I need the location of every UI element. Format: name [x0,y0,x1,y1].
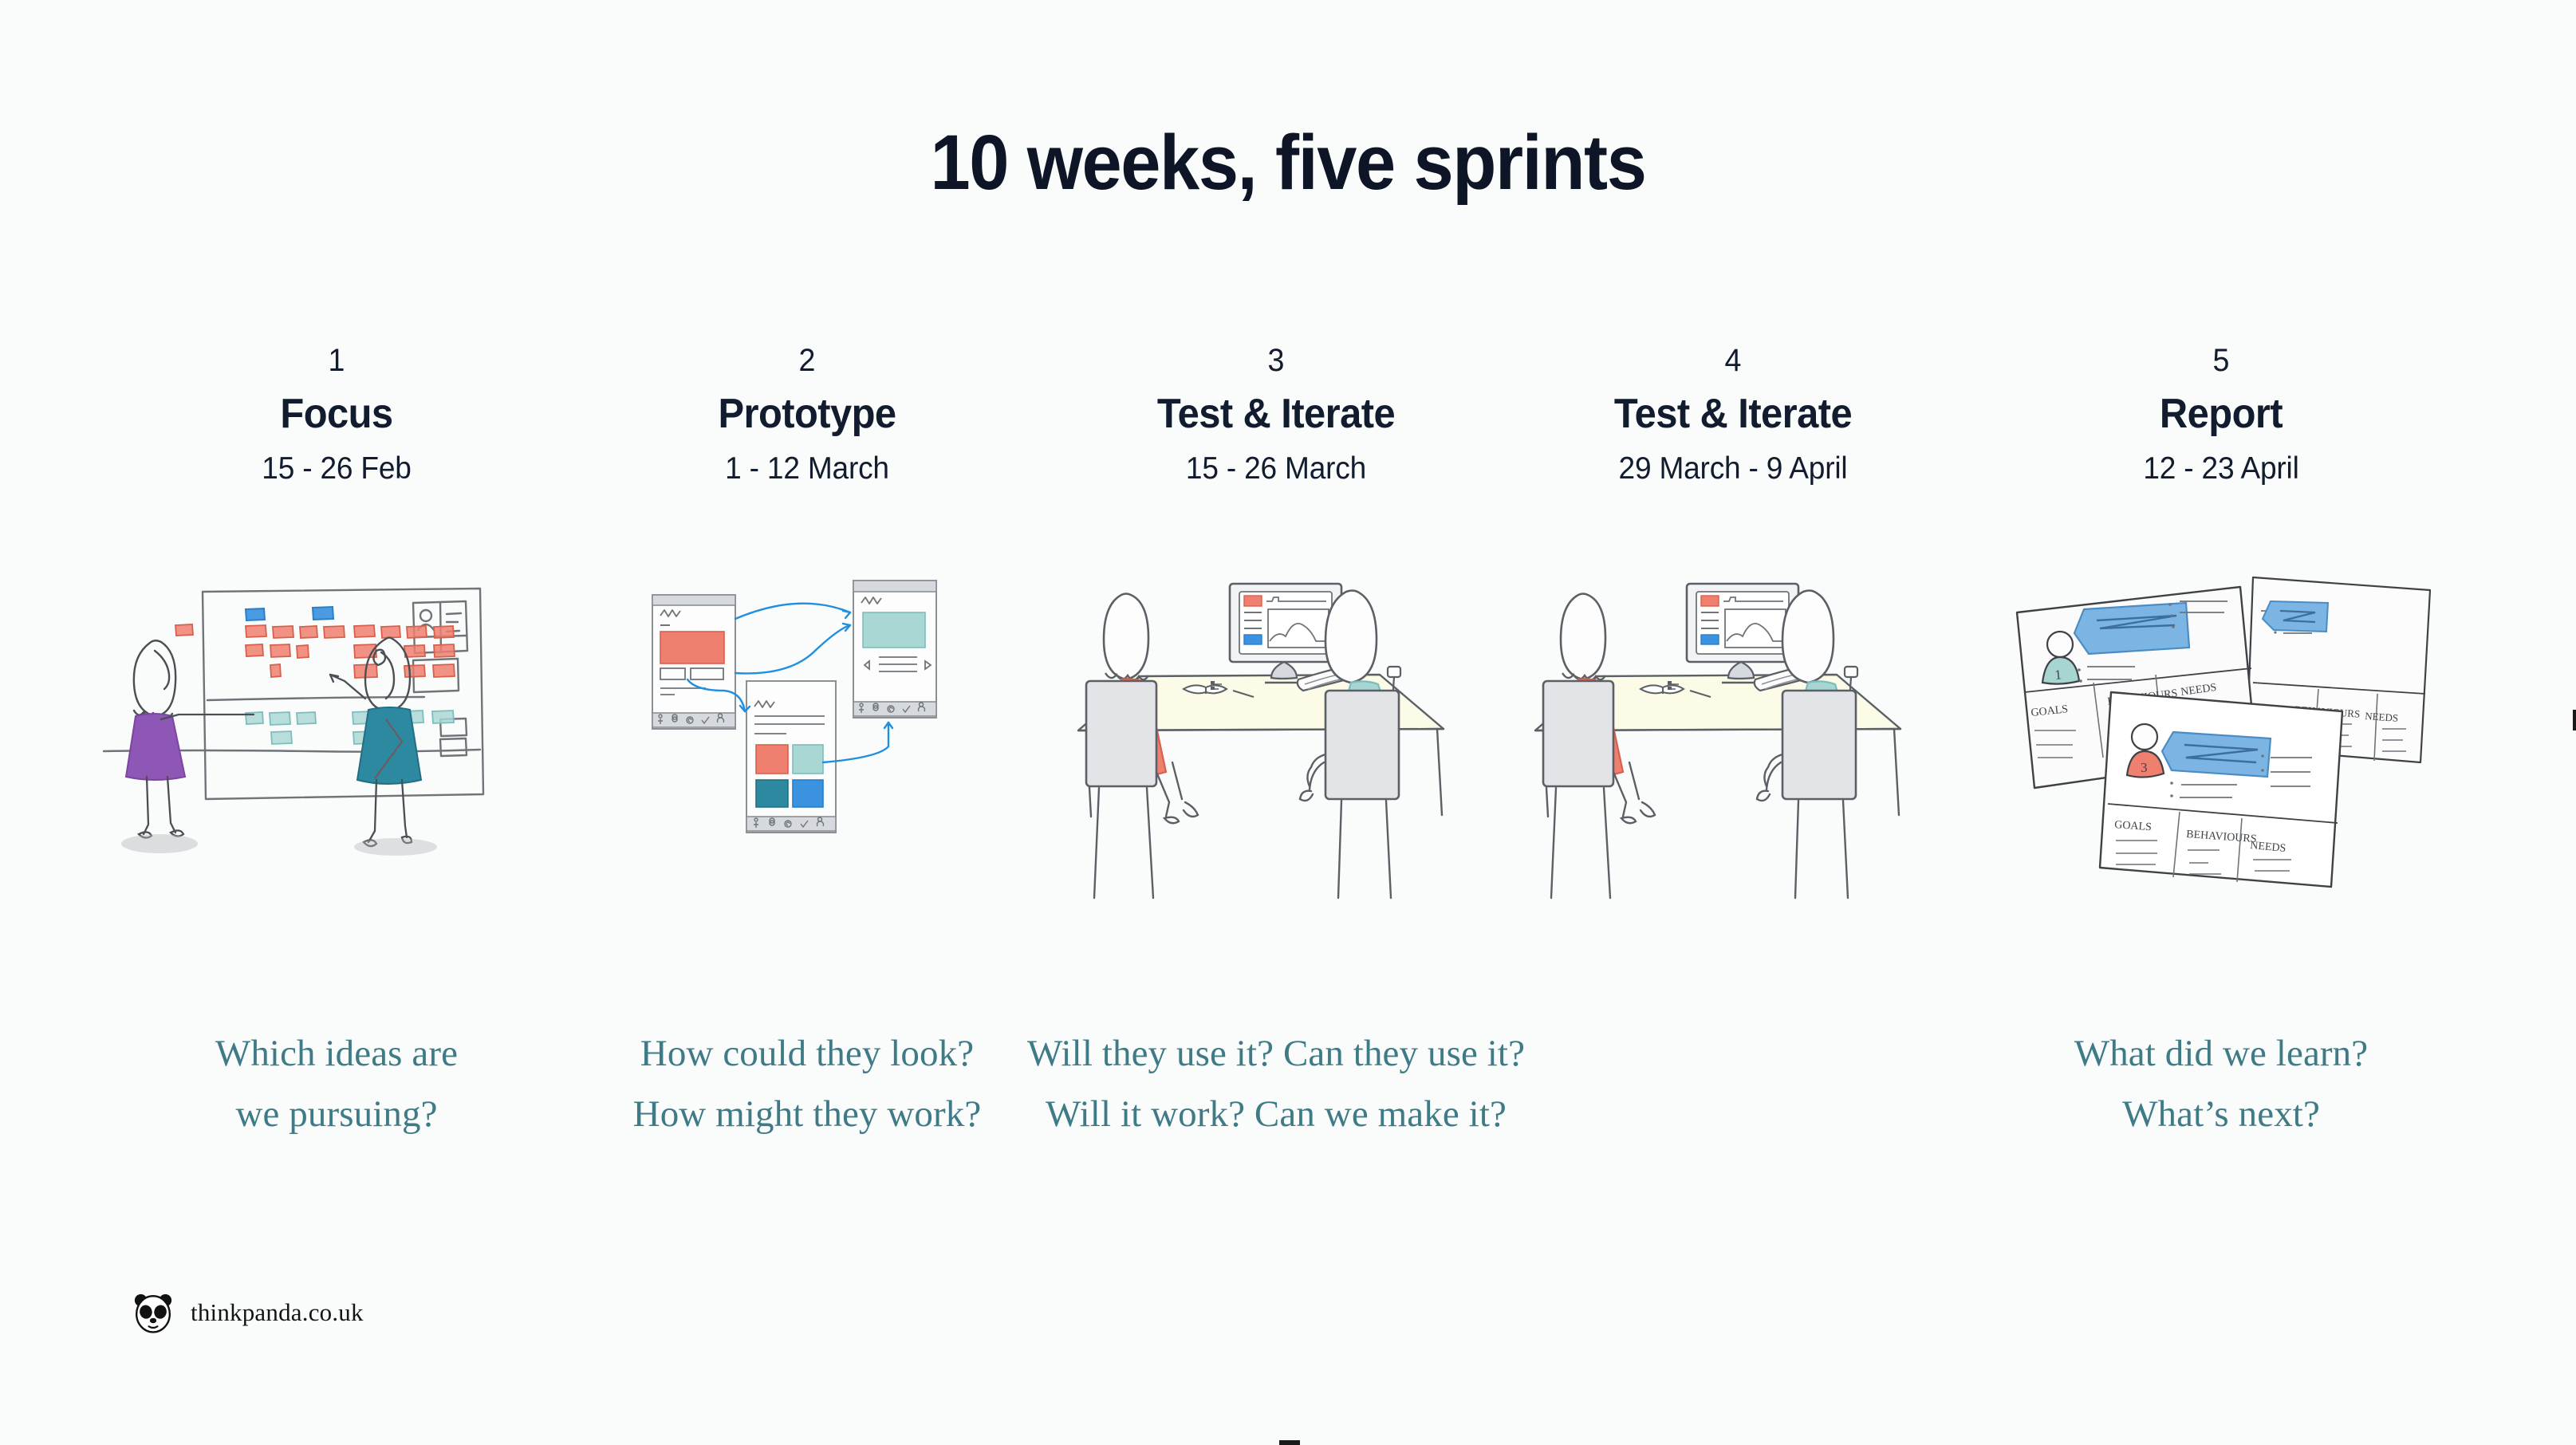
sprint-header-1: 1 Focus 15 - 26 Feb [105,345,568,486]
sprint-name: Test & Iterate [1515,392,1950,436]
footer-brand[interactable]: thinkpanda.co.uk [130,1289,364,1336]
persona-report-sheets-illustration: BEHAVIOURS NEEDS 1 [1990,563,2452,898]
caption-line: Will they use it? Can they use it? [933,1023,1619,1084]
svg-text:NEEDS: NEEDS [2365,710,2399,724]
caption-line: What’s next? [1958,1084,2484,1144]
sprint-dates: 29 March - 9 April [1514,452,1953,486]
sprint-header-3: 3 Test & Iterate 15 - 26 March [1045,345,1507,486]
whiteboard-workshop-illustration [105,563,568,898]
sprint-columns: 1 Focus 15 - 26 Feb [0,0,2576,1445]
brand-url: thinkpanda.co.uk [191,1298,364,1327]
panda-logo-icon [130,1289,176,1336]
sprint-caption-5: What did we learn? What’s next? [1958,1023,2484,1144]
sprint-dates: 15 - 26 March [1057,452,1496,486]
sprint-number: 4 [1515,345,1950,376]
sprint-header-4: 4 Test & Iterate 29 March - 9 April [1502,345,1964,486]
sprint-number: 2 [589,345,1024,376]
sprint-number: 1 [119,345,553,376]
caption-line: What did we learn? [1958,1023,2484,1084]
bottom-edge-artifact [1279,1440,1300,1445]
sprint-name: Focus [119,392,553,436]
sprint-number: 3 [1058,345,1493,376]
sprint-dates: 12 - 23 April [2002,452,2441,486]
usability-testing-illustration [1502,563,1964,898]
sprint-number: 5 [2003,345,2438,376]
svg-text:3: 3 [2141,760,2148,775]
sprint-header-2: 2 Prototype 1 - 12 March [576,345,1038,486]
sprint-name: Report [2003,392,2438,436]
right-edge-artifact [2573,710,2576,730]
sprint-header-5: 5 Report 12 - 23 April [1990,345,2452,486]
slide-canvas: 10 weeks, five sprints 1 Focus 15 - 26 F… [0,0,2576,1445]
sprint-caption-3: Will they use it? Can they use it? Will … [933,1023,1619,1144]
wireframe-flow-illustration [576,563,1038,898]
sprint-dates: 15 - 26 Feb [117,452,557,486]
caption-line: Will it work? Can we make it? [933,1084,1619,1144]
sprint-name: Prototype [589,392,1024,436]
usability-testing-illustration [1045,563,1507,898]
sprint-name: Test & Iterate [1058,392,1493,436]
sprint-dates: 1 - 12 March [588,452,1027,486]
